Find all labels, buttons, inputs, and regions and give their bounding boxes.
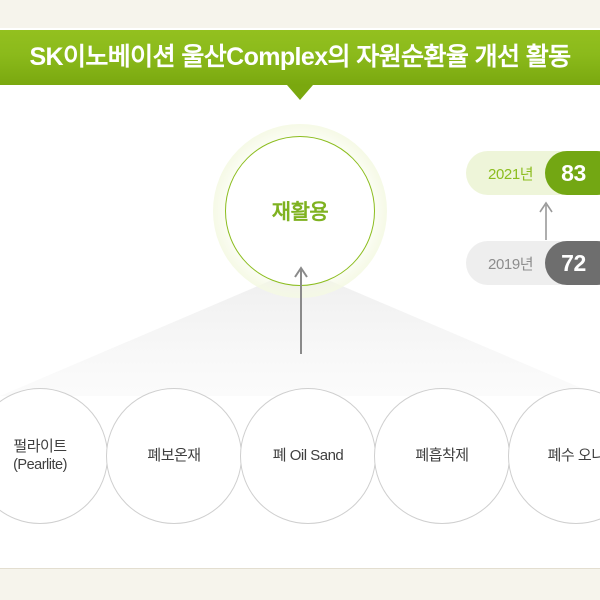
material-label-5-line1: 폐수 오니 [548,447,600,466]
stat-trend-up-arrow-icon [537,198,555,240]
page-title: SK이노베이션 울산Complex의 자원순환율 개선 활동 [29,45,570,70]
material-label-1-line2: (Pearlite) [13,456,67,474]
material-circle-5[interactable]: 폐수 오니 [508,388,600,524]
material-label-3-line1: 폐 Oil Sand [273,447,344,466]
material-label-1-line1: 펄라이트 [13,438,66,457]
material-circle-2[interactable]: 폐보온재 [106,388,242,524]
top-background-strip [0,0,600,28]
stat-value-2019: 72 [545,241,600,285]
stat-value-2021: 83 [545,151,600,195]
material-label-4-line1: 폐흡착제 [415,447,468,466]
header-banner: SK이노베이션 울산Complex의 자원순환율 개선 활동 [0,30,600,85]
stat-badge-2021[interactable]: 2021년 83 [466,151,600,195]
material-circle-3[interactable]: 폐 Oil Sand [240,388,376,524]
stat-year-label-2021: 2021년 [466,163,545,184]
material-circle-1[interactable]: 펄라이트 (Pearlite) [0,388,108,524]
recycle-flow-up-arrow-icon [291,262,311,354]
center-circle-label: 재활용 [272,196,328,226]
banner-pointer-triangle-icon [287,85,313,100]
stat-badge-2019[interactable]: 2019년 72 [466,241,600,285]
material-label-2-line1: 폐보온재 [147,447,200,466]
stat-year-label-2019: 2019년 [466,253,545,274]
infographic-slide: SK이노베이션 울산Complex의 자원순환율 개선 활동 재활용 2021년… [0,0,600,600]
bottom-background-strip [0,568,600,600]
materials-row: 펄라이트 (Pearlite) 폐보온재 폐 Oil Sand 폐흡착제 폐수 … [0,388,600,528]
material-circle-4[interactable]: 폐흡착제 [374,388,510,524]
